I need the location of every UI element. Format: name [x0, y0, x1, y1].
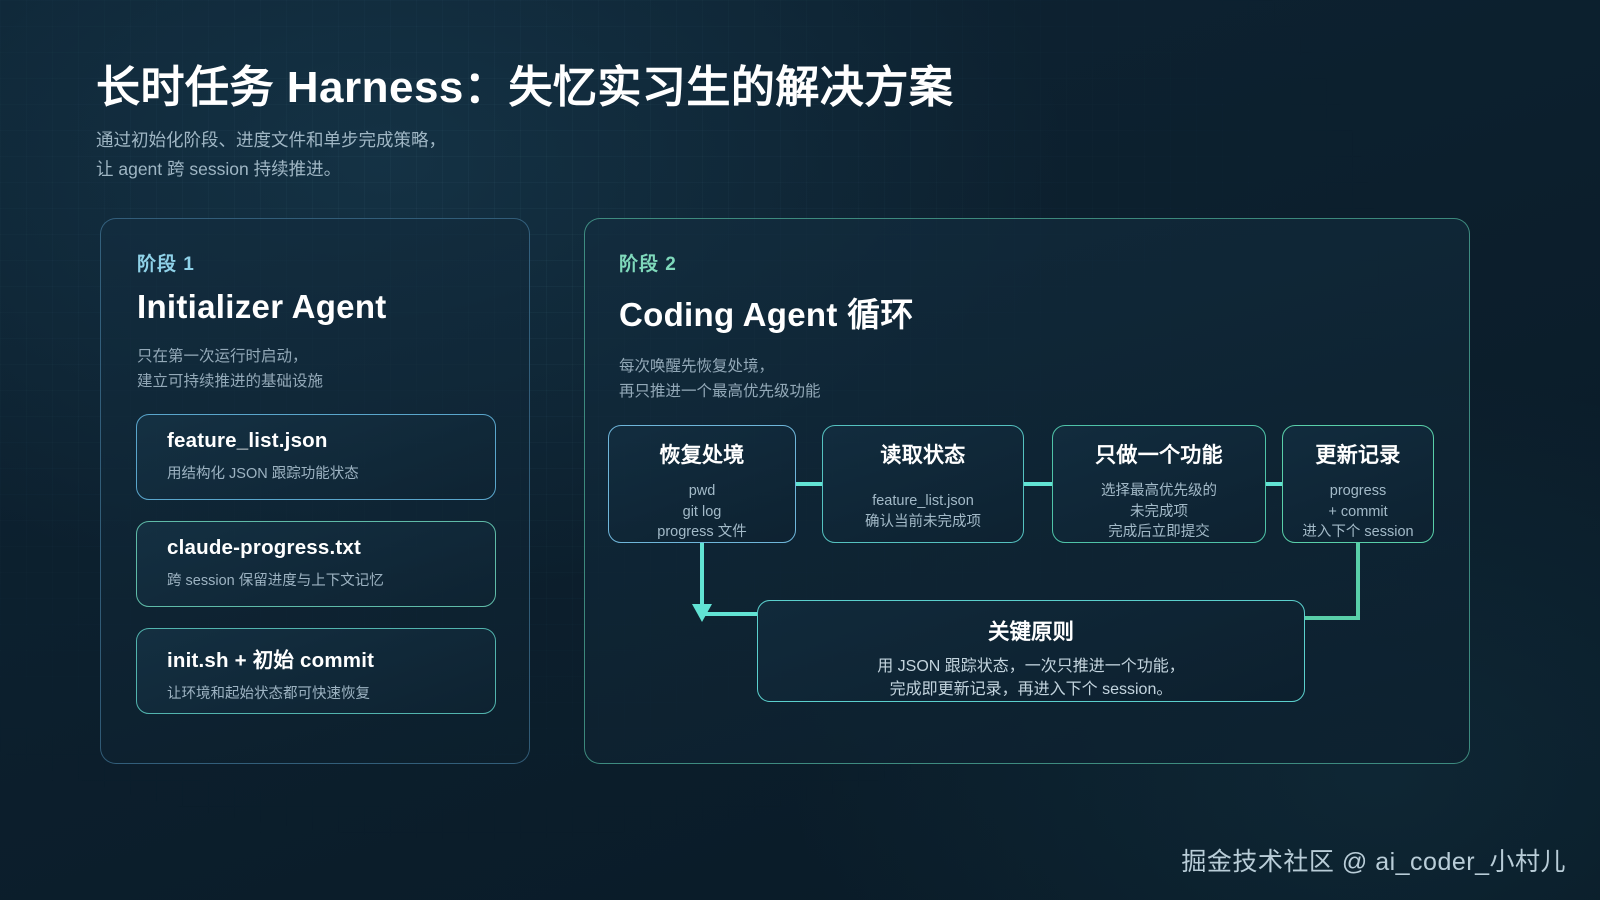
- subtitle-line-2: 让 agent 跨 session 持续推进。: [96, 156, 1276, 183]
- key-principle-body: 用 JSON 跟踪状态，一次只推进一个功能， 完成即更新记录，再进入下个 ses…: [758, 655, 1304, 702]
- flow-step-detail-line: feature_list.json: [823, 491, 1023, 512]
- subtitle-line-1: 通过初始化阶段、进度文件和单步完成策略，: [96, 127, 1276, 154]
- key-principle-line-1: 用 JSON 跟踪状态，一次只推进一个功能，: [758, 655, 1304, 678]
- flow-step-detail-line: pwd: [609, 481, 795, 502]
- phase-1-desc-line-1: 只在第一次运行时启动，: [137, 344, 387, 369]
- key-principle-box[interactable]: 关键原则 用 JSON 跟踪状态，一次只推进一个功能， 完成即更新记录，再进入下…: [757, 600, 1305, 702]
- file-card-claude-progress[interactable]: claude-progress.txt 跨 session 保留进度与上下文记忆: [136, 521, 496, 607]
- file-card-desc: 让环境和起始状态都可快速恢复: [167, 682, 495, 703]
- phase-1-heading-group: 阶段 1 Initializer Agent 只在第一次运行时启动， 建立可持续…: [137, 249, 387, 394]
- flow-step-detail-line: 进入下个 session: [1283, 522, 1433, 543]
- file-card-init-sh[interactable]: init.sh + 初始 commit 让环境和起始状态都可快速恢复: [136, 628, 496, 714]
- slide-root: 长时任务 Harness：失忆实习生的解决方案 通过初始化阶段、进度文件和单步完…: [0, 0, 1600, 900]
- phase-1-description: 只在第一次运行时启动， 建立可持续推进的基础设施: [137, 344, 387, 394]
- flow-step-restore-context[interactable]: 恢复处境 pwd git log progress 文件: [608, 425, 796, 543]
- flow-step-details: 选择最高优先级的 未完成项 完成后立即提交: [1053, 481, 1265, 543]
- flow-step-single-feature[interactable]: 只做一个功能 选择最高优先级的 未完成项 完成后立即提交: [1052, 425, 1266, 543]
- flow-step-title: 更新记录: [1283, 439, 1433, 469]
- phase-2-heading-group: 阶段 2 Coding Agent 循环 每次唤醒先恢复处境， 再只推进一个最高…: [619, 249, 914, 404]
- page-title: 长时任务 Harness：失忆实习生的解决方案: [96, 62, 1276, 115]
- phase-2-title: Coding Agent 循环: [619, 288, 914, 336]
- file-card-title: feature_list.json: [167, 429, 495, 453]
- phase-2-desc-line-1: 每次唤醒先恢复处境，: [619, 354, 914, 379]
- flow-step-read-state[interactable]: 读取状态 feature_list.json 确认当前未完成项: [822, 425, 1024, 543]
- flow-step-detail-line: 完成后立即提交: [1053, 522, 1265, 543]
- flow-step-detail-line: progress: [1283, 481, 1433, 502]
- flow-step-details: feature_list.json 确认当前未完成项: [823, 491, 1023, 532]
- flow-step-details: progress + commit 进入下个 session: [1283, 481, 1433, 543]
- phase-1-tag: 阶段 1: [137, 249, 387, 276]
- file-card-title: claude-progress.txt: [167, 536, 495, 560]
- flow-step-detail-line: git log: [609, 502, 795, 523]
- flow-step-detail-line: + commit: [1283, 502, 1433, 523]
- phase-2-tag: 阶段 2: [619, 249, 914, 276]
- phase-1-title: Initializer Agent: [137, 288, 387, 326]
- phase-2-description: 每次唤醒先恢复处境， 再只推进一个最高优先级功能: [619, 354, 914, 404]
- key-principle-title: 关键原则: [758, 615, 1304, 646]
- file-card-desc: 跨 session 保留进度与上下文记忆: [167, 569, 495, 590]
- flow-step-detail-line: 未完成项: [1053, 502, 1265, 523]
- phase-2-desc-line-2: 再只推进一个最高优先级功能: [619, 379, 914, 404]
- flow-step-details: pwd git log progress 文件: [609, 481, 795, 543]
- file-card-desc: 用结构化 JSON 跟踪功能状态: [167, 462, 495, 483]
- phase-1-desc-line-2: 建立可持续推进的基础设施: [137, 369, 387, 394]
- file-card-title: init.sh + 初始 commit: [167, 643, 495, 673]
- flow-step-detail-line: 确认当前未完成项: [823, 512, 1023, 533]
- footer-watermark: 掘金技术社区 @ ai_coder_小村儿: [1181, 842, 1566, 878]
- flow-step-update-record[interactable]: 更新记录 progress + commit 进入下个 session: [1282, 425, 1434, 543]
- flow-step-detail-line: 选择最高优先级的: [1053, 481, 1265, 502]
- file-card-feature-list[interactable]: feature_list.json 用结构化 JSON 跟踪功能状态: [136, 414, 496, 500]
- flow-step-title: 只做一个功能: [1053, 439, 1265, 469]
- flow-step-title: 读取状态: [823, 439, 1023, 469]
- flow-step-title: 恢复处境: [609, 439, 795, 469]
- header: 长时任务 Harness：失忆实习生的解决方案 通过初始化阶段、进度文件和单步完…: [96, 62, 1276, 183]
- flow-step-detail-line: progress 文件: [609, 522, 795, 543]
- key-principle-line-2: 完成即更新记录，再进入下个 session。: [758, 678, 1304, 701]
